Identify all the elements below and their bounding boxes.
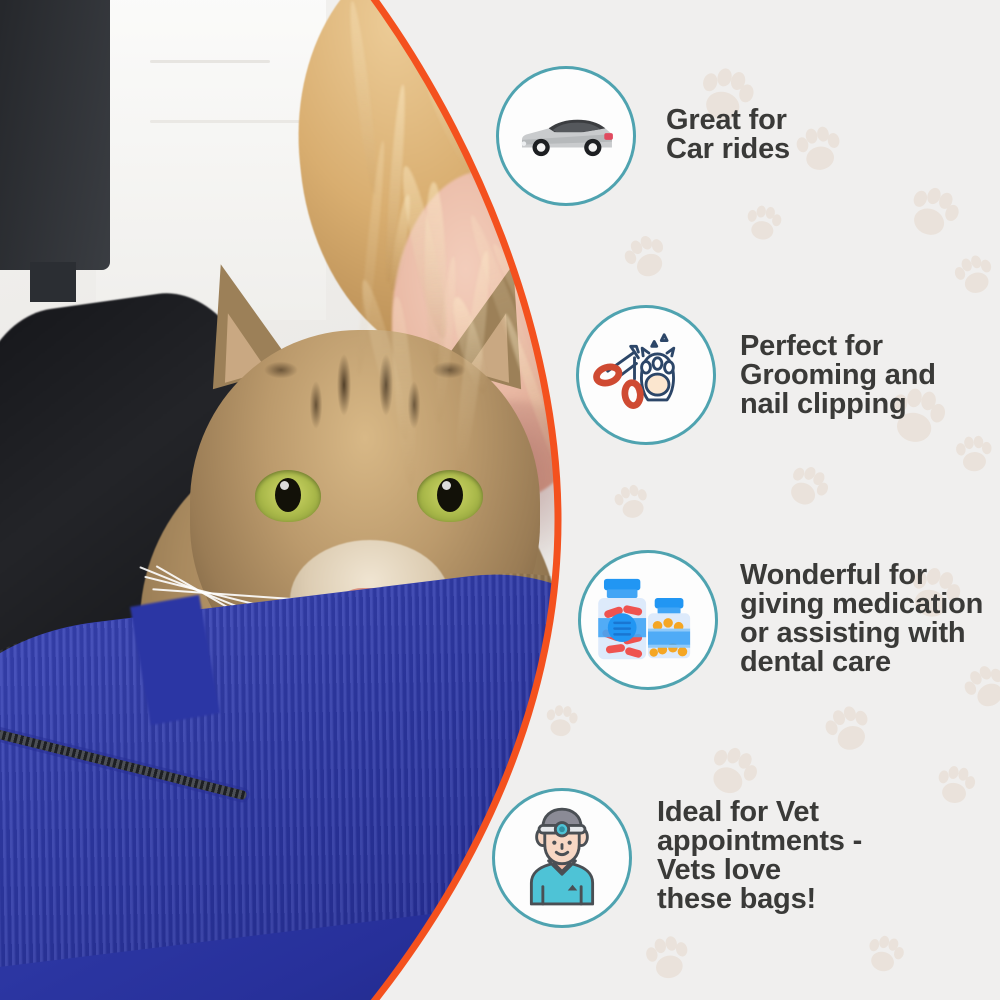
feature-label-vet: Ideal for Vet appointments - Vets love t…: [657, 798, 862, 914]
pill-bottles-icon: [581, 553, 715, 687]
infographic-canvas: Great for Car rides: [0, 0, 1000, 1000]
veterinarian-icon: [495, 791, 629, 925]
paw-print-icon: [785, 115, 853, 187]
feature-icon-circle-vet: [492, 788, 632, 928]
paw-print-icon: [811, 692, 887, 771]
car-icon: [499, 69, 633, 203]
feature-icon-circle-medication: [578, 550, 718, 690]
feature-label-grooming: Perfect for Grooming and nail clipping: [740, 332, 936, 419]
feature-label-car-rides: Great for Car rides: [666, 106, 790, 164]
paw-print-icon: [737, 197, 790, 254]
paw-print-icon: [634, 925, 701, 996]
photo-cat-eye-glint-right: [442, 481, 451, 490]
nail-clippers-paw-icon: [579, 308, 713, 442]
paw-print-icon: [926, 756, 985, 819]
paw-print-icon: [610, 221, 684, 297]
paw-print-icon: [769, 451, 843, 526]
photo-wall-line: [150, 60, 270, 63]
feature-icon-circle-grooming: [576, 305, 716, 445]
paw-print-icon: [889, 171, 974, 259]
photo-monitor-stand: [30, 262, 76, 302]
photo-cat-eye-glint-left: [280, 481, 289, 490]
feature-label-medication: Wonderful for giving medication or assis…: [740, 561, 983, 677]
paw-print-icon: [948, 428, 1000, 485]
photo-monitor: [0, 0, 110, 270]
feature-icon-circle-car-rides: [496, 66, 636, 206]
paw-print-icon: [854, 924, 915, 988]
photo-wall-line-2: [150, 120, 300, 123]
paw-print-icon: [943, 244, 1000, 312]
